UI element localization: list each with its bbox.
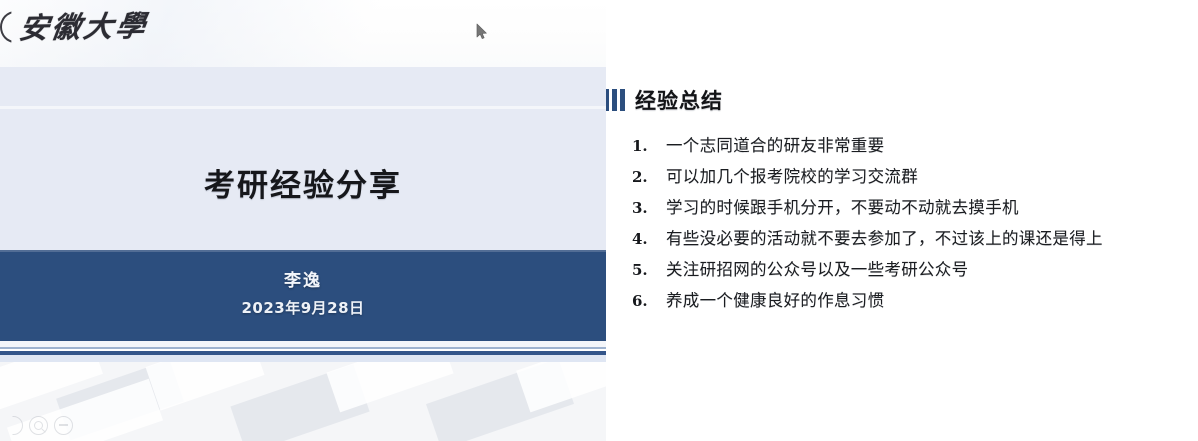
list-item-text: 关注研招网的公众号以及一些考研公众号 (666, 256, 968, 280)
university-crest-icon (0, 8, 18, 42)
notes-panel: 经验总结 1. 一个志同道合的研友非常重要 2. 可以加几个报考院校的学习交流群… (606, 0, 1198, 441)
list-item-text: 养成一个健康良好的作息习惯 (666, 287, 884, 311)
notes-heading-row: 经验总结 (606, 85, 723, 115)
slide-title: 考研经验分享 (0, 160, 606, 205)
zoom-in-icon[interactable] (29, 416, 48, 435)
slide-body: 考研经验分享 (0, 67, 606, 250)
three-bars-icon (606, 89, 625, 111)
presentation-slide[interactable]: 安徽大學 考研经验分享 李逸 2023年9月28日 (0, 0, 606, 441)
list-item-text: 学习的时候跟手机分开，不要动不动就去摸手机 (666, 194, 1019, 218)
list-item-text: 一个志同道合的研友非常重要 (666, 132, 884, 156)
notes-heading: 经验总结 (635, 85, 723, 115)
list-item: 3. 学习的时候跟手机分开，不要动不动就去摸手机 (632, 194, 1192, 225)
list-item-number: 3. (632, 199, 652, 217)
slide-footer-pattern (0, 362, 606, 441)
list-item: 2. 可以加几个报考院校的学习交流群 (632, 163, 1192, 194)
list-item-number: 1. (632, 137, 652, 155)
list-item-text: 有些没必要的活动就不要去参加了，不过该上的课还是得上 (666, 225, 1103, 249)
list-item: 5. 关注研招网的公众号以及一些考研公众号 (632, 256, 1192, 287)
university-logo: 安徽大學 (0, 4, 148, 46)
list-item: 1. 一个志同道合的研友非常重要 (632, 132, 1192, 163)
banner-top-hairline (0, 250, 606, 252)
list-item-number: 6. (632, 292, 652, 310)
slide-body-stripe (0, 106, 606, 109)
divider-pale (0, 355, 606, 362)
zoom-reset-icon[interactable] (4, 416, 23, 435)
zoom-out-icon[interactable] (54, 416, 73, 435)
list-item-number: 2. (632, 168, 652, 186)
list-item-text: 可以加几个报考院校的学习交流群 (666, 163, 918, 187)
zoom-controls[interactable] (4, 416, 73, 435)
slide-author-name: 李逸 (0, 266, 606, 291)
university-logo-text: 安徽大學 (17, 3, 151, 48)
experience-list: 1. 一个志同道合的研友非常重要 2. 可以加几个报考院校的学习交流群 3. 学… (632, 132, 1192, 318)
slide-author-banner: 李逸 2023年9月28日 (0, 250, 606, 341)
list-item-number: 5. (632, 261, 652, 279)
slide-date: 2023年9月28日 (0, 297, 606, 318)
screen-root: 安徽大學 考研经验分享 李逸 2023年9月28日 (0, 0, 1198, 441)
slide-header-band: 安徽大學 (0, 0, 606, 67)
list-item-number: 4. (632, 230, 652, 248)
list-item: 6. 养成一个健康良好的作息习惯 (632, 287, 1192, 318)
list-item: 4. 有些没必要的活动就不要去参加了，不过该上的课还是得上 (632, 225, 1192, 256)
